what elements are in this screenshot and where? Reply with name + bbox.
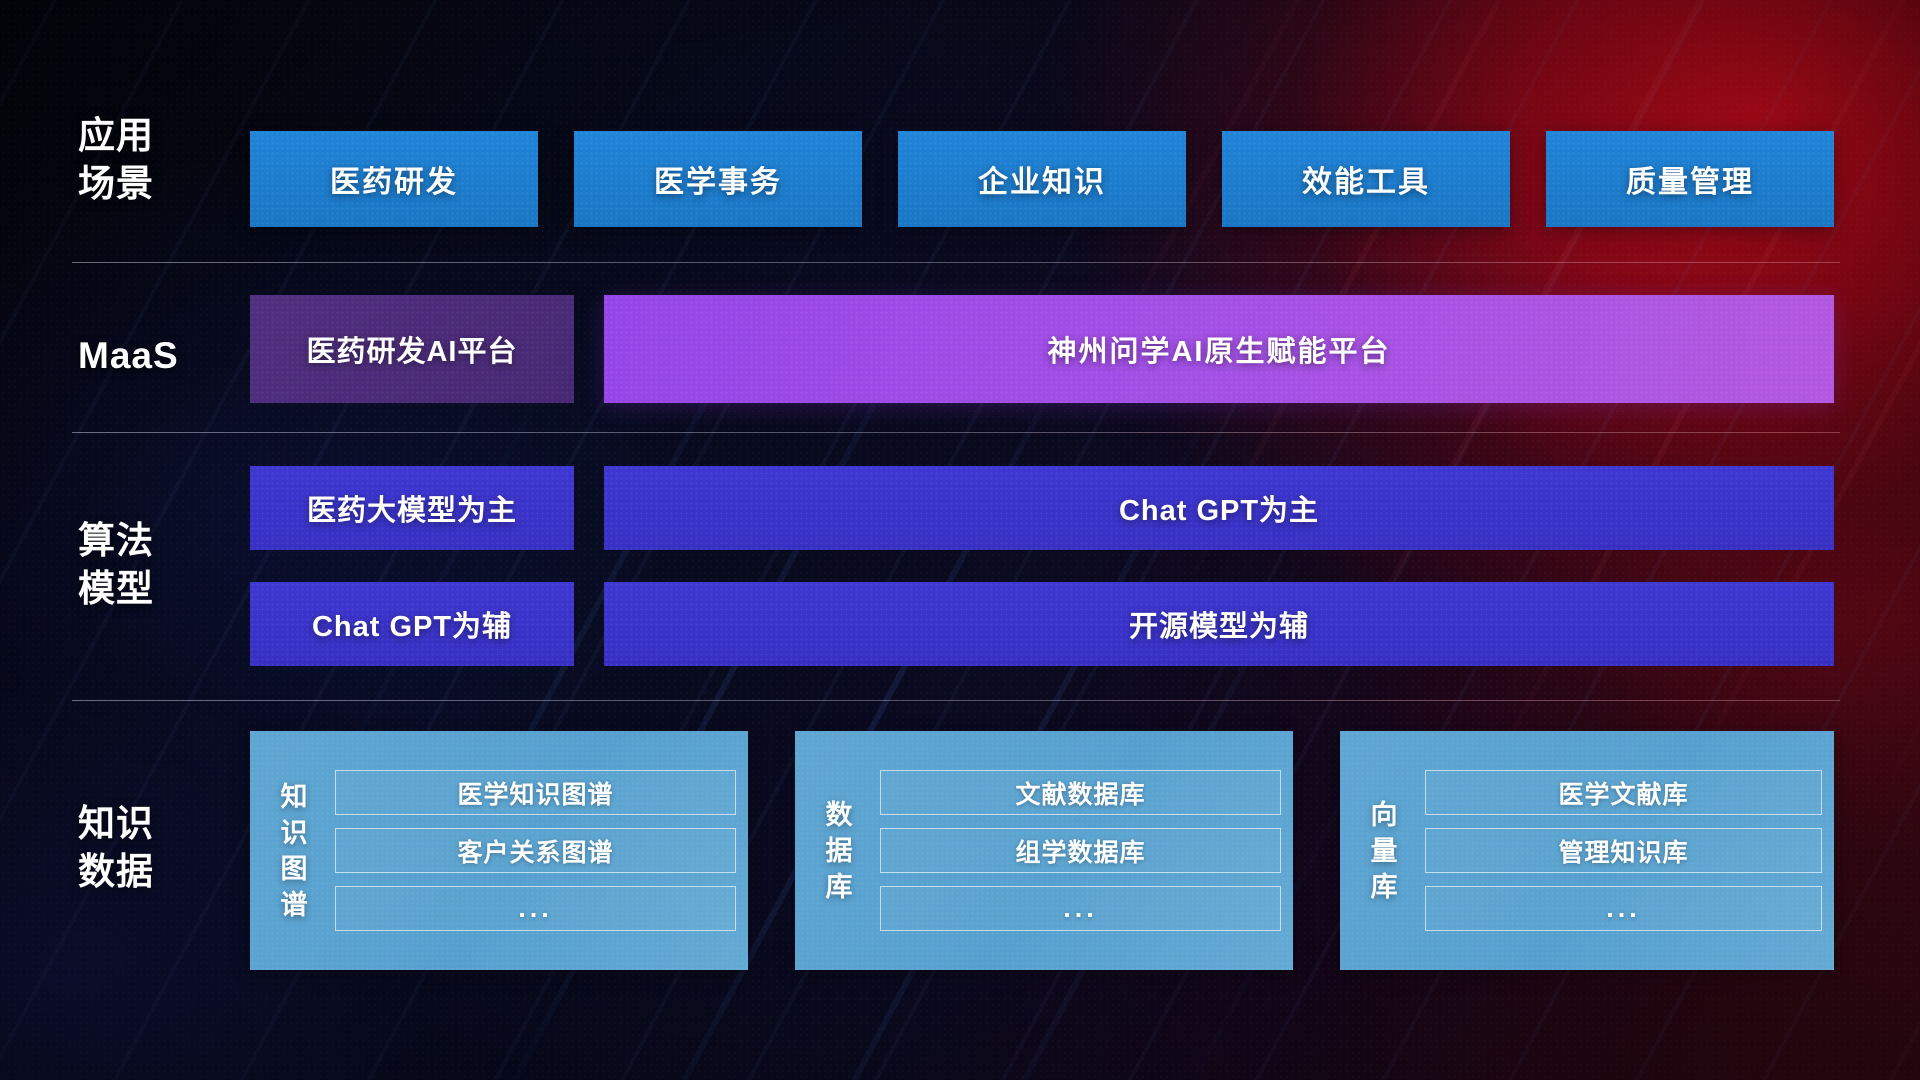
knowledge-group-graph-items: 医学知识图谱 客户关系图谱 ... [329,770,736,931]
row-label-maas: MaaS [78,332,238,380]
knowledge-item-more[interactable]: ... [1425,886,1822,931]
knowledge-item-label: ... [1063,893,1098,924]
divider-application-maas [72,262,1840,263]
maas-platform-card-right[interactable]: 神州问学AI原生赋能平台 [604,295,1834,403]
algorithm-card-2-left-label: Chat GPT为辅 [312,603,512,645]
knowledge-item-label: 组学数据库 [1015,833,1145,869]
maas-platform-card-left[interactable]: 医药研发AI平台 [250,295,574,403]
algorithm-card-2-right-label: 开源模型为辅 [1129,603,1309,645]
algorithm-card-2-left[interactable]: Chat GPT为辅 [250,582,574,666]
knowledge-item-label: ... [1606,893,1641,924]
architecture-grid: 应用 场景 医药研发 医学事务 企业知识 效能工具 质量管理 MaaS 医药研发… [0,0,1920,1080]
app-card-1-label: 医药研发 [330,157,458,201]
algorithm-card-1-right-label: Chat GPT为主 [1119,487,1319,529]
algorithm-card-1-right[interactable]: Chat GPT为主 [604,466,1834,550]
knowledge-item-label: 管理知识库 [1558,833,1688,869]
knowledge-group-database[interactable]: 数 据 库 文献数据库 组学数据库 ... [795,731,1293,970]
row-label-application: 应用 场景 [78,112,238,208]
maas-platform-card-right-label: 神州问学AI原生赋能平台 [1047,328,1390,370]
app-card-4-label: 效能工具 [1302,157,1430,201]
knowledge-group-vector[interactable]: 向 量 库 医学文献库 管理知识库 ... [1340,731,1834,970]
knowledge-item-more[interactable]: ... [880,886,1281,931]
diagram-canvas: 应用 场景 医药研发 医学事务 企业知识 效能工具 质量管理 MaaS 医药研发… [0,0,1920,1080]
app-card-2[interactable]: 医学事务 [574,131,862,227]
knowledge-group-vector-title: 向 量 库 [1349,797,1419,905]
divider-maas-algorithm [72,432,1840,433]
app-card-3[interactable]: 企业知识 [898,131,1186,227]
maas-platform-card-left-label: 医药研发AI平台 [306,328,517,370]
divider-algorithm-knowledge [72,700,1840,701]
row-label-algorithm: 算法 模型 [78,517,238,613]
knowledge-item[interactable]: 医学文献库 [1425,770,1822,815]
app-card-4[interactable]: 效能工具 [1222,131,1510,227]
knowledge-item-label: ... [518,893,553,924]
knowledge-item[interactable]: 客户关系图谱 [335,828,736,873]
algorithm-card-2-right[interactable]: 开源模型为辅 [604,582,1834,666]
app-card-3-label: 企业知识 [978,157,1106,201]
app-card-1[interactable]: 医药研发 [250,131,538,227]
knowledge-item[interactable]: 管理知识库 [1425,828,1822,873]
knowledge-group-graph[interactable]: 知 识 图 谱 医学知识图谱 客户关系图谱 ... [250,731,748,970]
knowledge-group-database-items: 文献数据库 组学数据库 ... [874,770,1281,931]
app-card-5-label: 质量管理 [1626,157,1754,201]
knowledge-item[interactable]: 组学数据库 [880,828,1281,873]
knowledge-item[interactable]: 医学知识图谱 [335,770,736,815]
knowledge-item-label: 文献数据库 [1015,775,1145,811]
algorithm-card-1-left[interactable]: 医药大模型为主 [250,466,574,550]
knowledge-item-label: 医学文献库 [1558,775,1688,811]
knowledge-group-vector-items: 医学文献库 管理知识库 ... [1419,770,1822,931]
app-card-2-label: 医学事务 [654,157,782,201]
row-label-knowledge: 知识 数据 [78,800,238,896]
knowledge-item[interactable]: 文献数据库 [880,770,1281,815]
knowledge-group-graph-title: 知 识 图 谱 [259,779,329,923]
knowledge-item-label: 客户关系图谱 [457,833,613,869]
app-card-5[interactable]: 质量管理 [1546,131,1834,227]
knowledge-item-more[interactable]: ... [335,886,736,931]
knowledge-group-database-title: 数 据 库 [804,797,874,905]
knowledge-item-label: 医学知识图谱 [457,775,613,811]
algorithm-card-1-left-label: 医药大模型为主 [307,487,517,529]
